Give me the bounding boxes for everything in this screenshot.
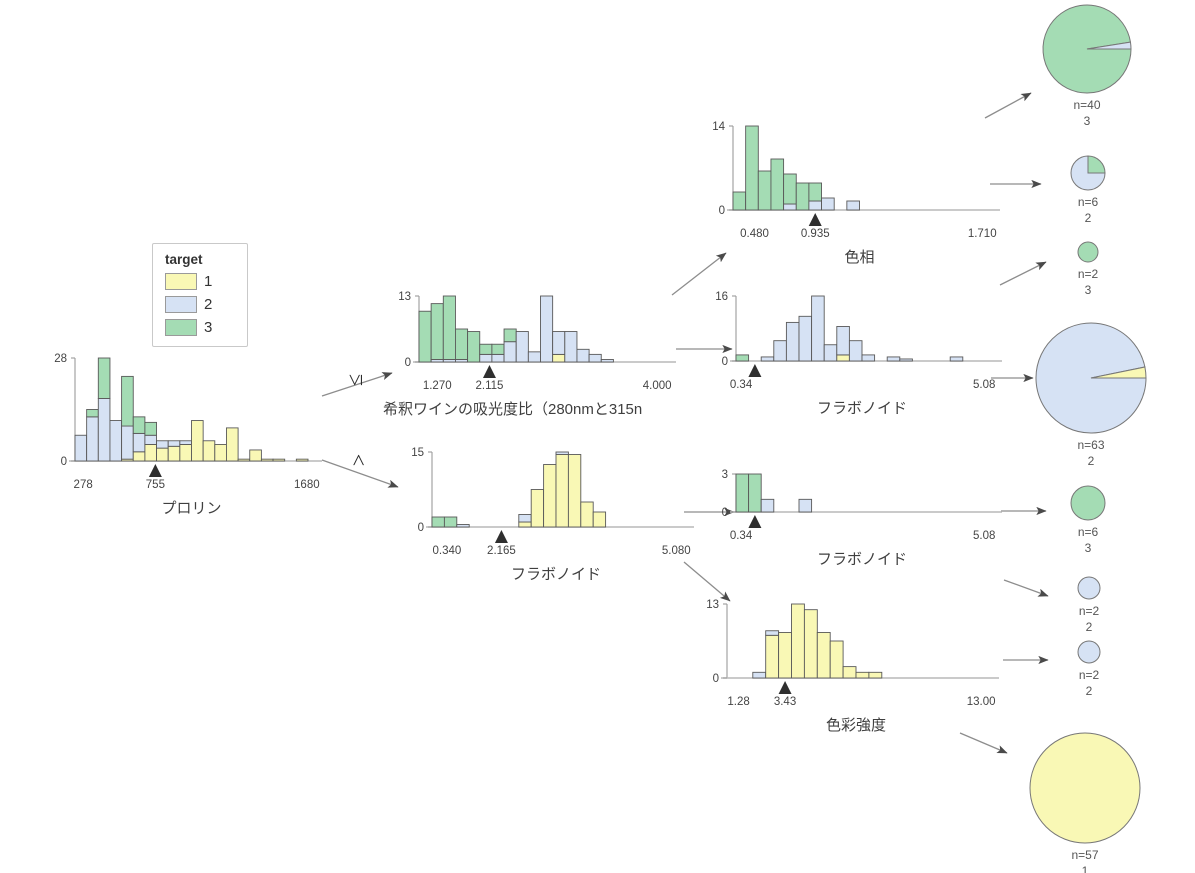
legend-item-2[interactable]: 2 [165, 296, 235, 313]
leaf-class-label: 3 [1085, 541, 1092, 555]
leaf-node-leaf-63[interactable]: n=632 [1036, 323, 1146, 468]
legend-label-3: 3 [204, 319, 212, 336]
leaf-node-leaf-6b[interactable]: n=63 [1071, 486, 1105, 555]
leaf-count-label: n=40 [1073, 98, 1100, 112]
legend-label-1: 1 [204, 273, 212, 290]
leaf-class-label: 2 [1085, 211, 1092, 225]
leaf-class-label: 2 [1086, 684, 1093, 698]
leaf-class-label: 2 [1086, 620, 1093, 634]
legend-swatch-1 [165, 273, 197, 290]
leaf-class-label: 3 [1084, 114, 1091, 128]
leaf-pie [1071, 486, 1105, 520]
legend-swatch-2 [165, 296, 197, 313]
legend-item-1[interactable]: 1 [165, 273, 235, 290]
leaf-pie-slice [1088, 156, 1105, 173]
leaf-pie [1078, 641, 1100, 663]
leaf-nodes-layer: n=403n=62n=23n=632n=63n=22n=22n=571 [0, 0, 1195, 873]
leaf-node-leaf-40[interactable]: n=403 [1043, 5, 1131, 128]
legend-title: target [165, 252, 235, 267]
legend-label-2: 2 [204, 296, 212, 313]
leaf-node-leaf-2a[interactable]: n=23 [1078, 242, 1099, 297]
leaf-count-label: n=63 [1077, 438, 1104, 452]
leaf-count-label: n=57 [1071, 848, 1098, 862]
leaf-node-leaf-6a[interactable]: n=62 [1071, 156, 1105, 225]
leaf-class-label: 3 [1085, 283, 1092, 297]
leaf-node-leaf-2c[interactable]: n=22 [1078, 641, 1100, 698]
leaf-node-leaf-57[interactable]: n=571 [1030, 733, 1140, 873]
leaf-pie [1078, 577, 1100, 599]
leaf-count-label: n=2 [1079, 604, 1100, 618]
leaf-count-label: n=2 [1079, 668, 1100, 682]
leaf-class-label: 2 [1088, 454, 1095, 468]
legend-item-3[interactable]: 3 [165, 319, 235, 336]
legend-swatch-3 [165, 319, 197, 336]
leaf-count-label: n=2 [1078, 267, 1099, 281]
leaf-node-leaf-2b[interactable]: n=22 [1078, 577, 1100, 634]
legend: target 1 2 3 [152, 243, 248, 347]
leaf-pie [1078, 242, 1098, 262]
leaf-pie [1030, 733, 1140, 843]
leaf-count-label: n=6 [1078, 525, 1099, 539]
decision-tree-canvas: ≤ > 0282787551680プロリン0131.2702.1154.000希… [0, 0, 1195, 873]
leaf-count-label: n=6 [1078, 195, 1099, 209]
leaf-class-label: 1 [1082, 864, 1089, 873]
